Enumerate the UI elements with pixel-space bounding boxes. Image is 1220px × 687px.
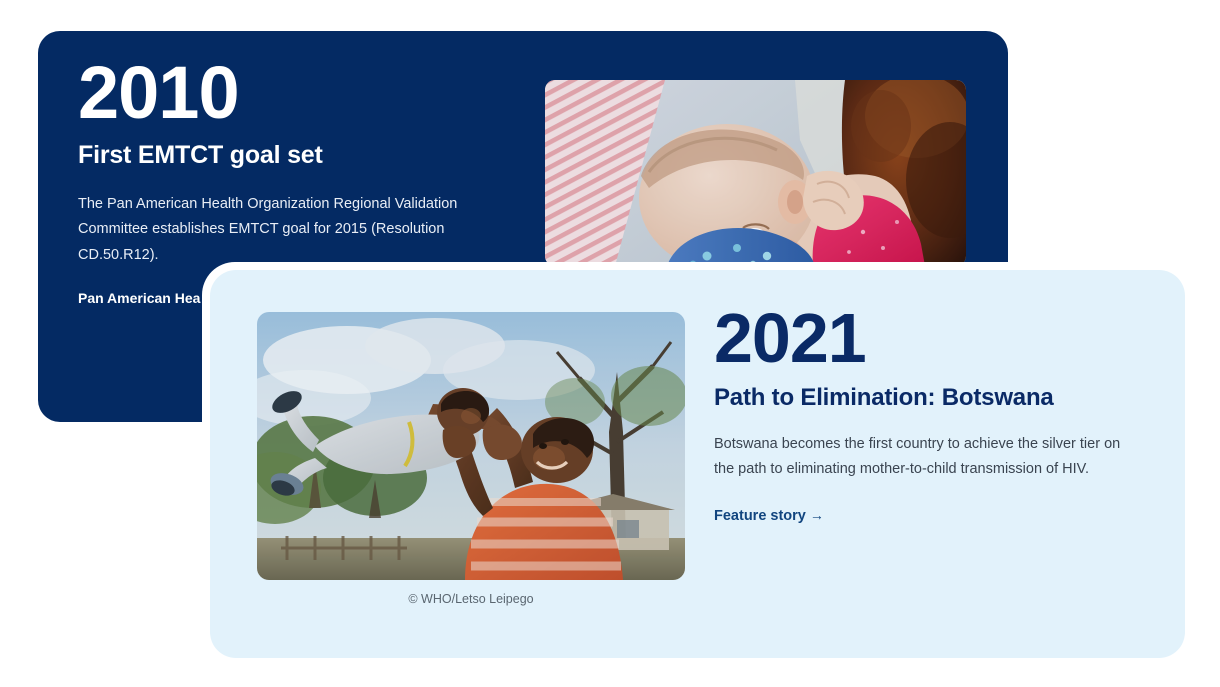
card-2010-year: 2010 xyxy=(78,59,538,127)
card-2021-body: Botswana becomes the first country to ac… xyxy=(714,432,1129,484)
card-2021-headline: Path to Elimination: Botswana xyxy=(714,384,1144,412)
card-2021[interactable]: © WHO/Letso Leipego 2021 Path to Elimina… xyxy=(210,270,1185,658)
feature-story-link[interactable]: Feature story→ xyxy=(714,507,824,524)
card-2010-body: The Pan American Health Organization Reg… xyxy=(78,192,508,268)
baby-breastfeeding-photo xyxy=(545,80,966,266)
timeline-cards-stage: 2010 First EMTCT goal set The Pan Americ… xyxy=(0,0,1220,687)
arrow-right-icon: → xyxy=(810,507,824,523)
parent-lifting-child-photo xyxy=(257,312,685,580)
card-2021-year: 2021 xyxy=(714,305,1144,372)
feature-story-label: Feature story xyxy=(714,508,806,524)
card-2010-headline: First EMTCT goal set xyxy=(78,141,538,170)
card-2021-text-block: 2021 Path to Elimination: Botswana Botsw… xyxy=(714,305,1144,525)
photo-credit: © WHO/Letso Leipego xyxy=(257,592,685,606)
